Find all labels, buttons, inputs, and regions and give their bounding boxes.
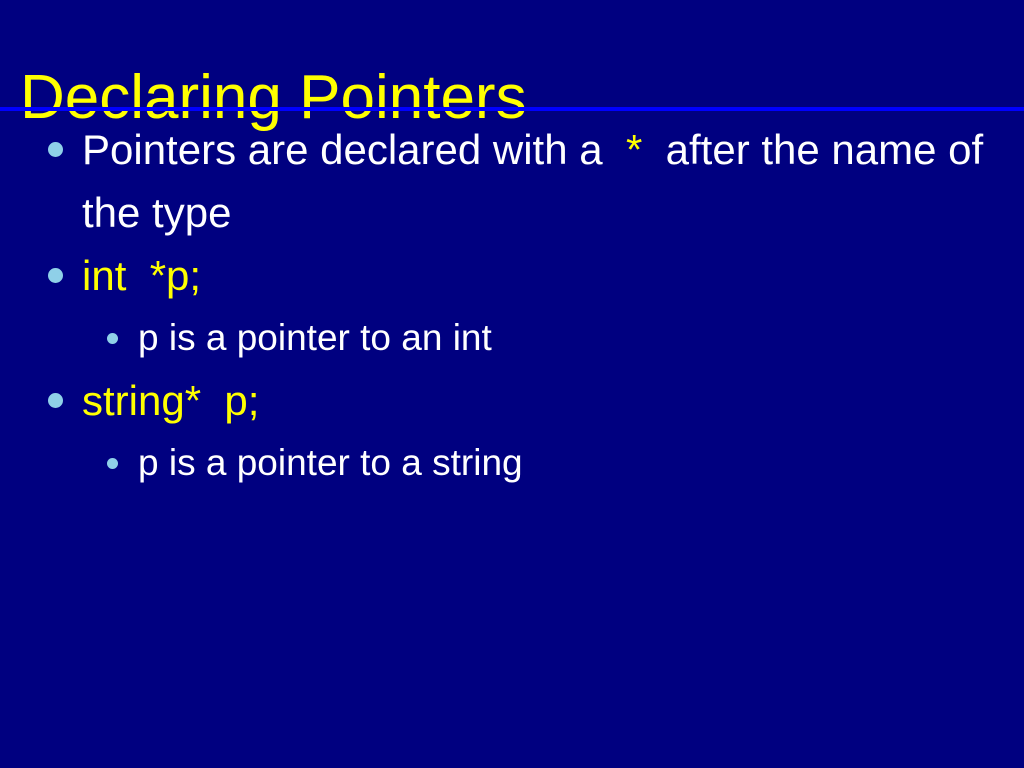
bullet-text: int *p; (82, 252, 201, 299)
bullet-text: p is a pointer to an int (138, 317, 492, 358)
bullet-text: Pointers are declared with a * after the… (82, 126, 995, 236)
disc-bullet-icon (107, 333, 118, 344)
bullet-item-level1: Pointers are declared with a * after the… (0, 118, 1024, 244)
slide-canvas: Declaring Pointers Pointers are declared… (0, 0, 1024, 768)
bullet-text: string* p; (82, 377, 259, 424)
code-fragment: * (626, 126, 642, 173)
code-fragment: string* p; (82, 377, 259, 424)
bullet-item-level1: int *p; (0, 244, 1024, 307)
code-fragment: int *p; (82, 252, 201, 299)
title-divider-rule (0, 107, 1024, 111)
bullet-text: p is a pointer to a string (138, 442, 523, 483)
text-fragment: Pointers are declared with a (82, 126, 626, 173)
disc-bullet-icon (48, 393, 63, 408)
bullet-item-level1: string* p; (0, 369, 1024, 432)
disc-bullet-icon (107, 458, 118, 469)
disc-bullet-icon (48, 142, 63, 157)
disc-bullet-icon (48, 268, 63, 283)
bullet-item-level2: p is a pointer to a string (0, 432, 1024, 494)
text-fragment: p is a pointer to a string (138, 442, 523, 483)
bullet-item-level2: p is a pointer to an int (0, 307, 1024, 369)
text-fragment: p is a pointer to an int (138, 317, 492, 358)
slide-body: Pointers are declared with a * after the… (0, 118, 1024, 768)
